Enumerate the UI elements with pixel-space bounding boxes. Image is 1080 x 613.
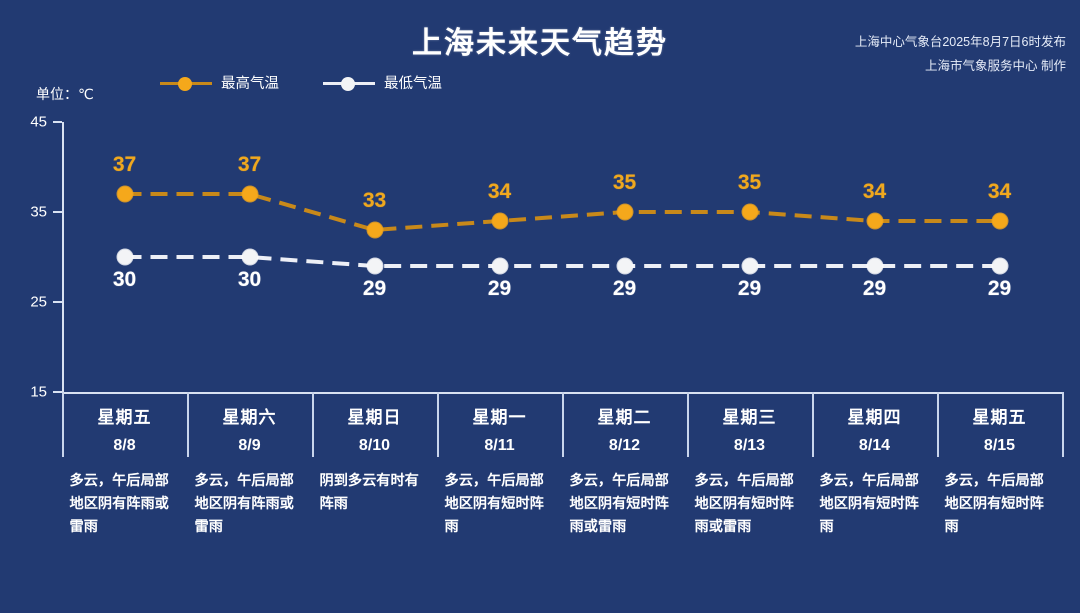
day-header-cell: 星期四8/14 <box>817 403 933 455</box>
date-label: 8/13 <box>692 437 808 455</box>
high-temp-point[interactable] <box>242 187 257 202</box>
low-temp-point[interactable] <box>992 259 1007 274</box>
high-temp-point[interactable] <box>992 214 1007 229</box>
column-divider <box>562 392 564 457</box>
weather-description: 多云，午后局部地区阴有短时阵雨 <box>820 470 928 539</box>
low-temp-label: 29 <box>965 277 1035 301</box>
weather-trend-chart: 上海未来天气趋势 上海中心气象台2025年8月7日6时发布 上海市气象服务中心 … <box>0 0 1080 613</box>
low-temp-label: 30 <box>90 268 160 292</box>
weekday-label: 星期六 <box>192 403 308 428</box>
y-axis-tick <box>53 211 62 213</box>
date-label: 8/14 <box>817 437 933 455</box>
date-label: 8/15 <box>942 437 1058 455</box>
date-label: 8/11 <box>442 437 558 455</box>
y-axis-line <box>62 122 64 392</box>
low-temp-label: 30 <box>215 268 285 292</box>
high-temp-label: 34 <box>965 180 1035 204</box>
low-temp-label: 29 <box>715 277 785 301</box>
weekday-label: 星期日 <box>317 403 433 428</box>
high-temp-point[interactable] <box>492 214 507 229</box>
weather-description: 多云，午后局部地区阴有短时阵雨 <box>945 470 1053 539</box>
column-divider <box>812 392 814 457</box>
low-temp-point[interactable] <box>617 259 632 274</box>
column-divider <box>937 392 939 457</box>
y-axis-tick-label: 45 <box>7 114 47 131</box>
column-divider <box>187 392 189 457</box>
low-temp-label: 29 <box>340 277 410 301</box>
column-divider <box>1062 392 1064 457</box>
date-label: 8/12 <box>567 437 683 455</box>
low-temp-point[interactable] <box>867 259 882 274</box>
low-temp-label: 29 <box>590 277 660 301</box>
high-temp-label: 34 <box>465 180 535 204</box>
low-temp-point[interactable] <box>242 250 257 265</box>
high-temp-point[interactable] <box>742 205 757 220</box>
weather-description: 多云，午后局部地区阴有短时阵雨 <box>445 470 553 539</box>
day-header-cell: 星期六8/9 <box>192 403 308 455</box>
column-divider <box>687 392 689 457</box>
day-header-cell: 星期一8/11 <box>442 403 558 455</box>
low-temp-label: 29 <box>465 277 535 301</box>
weekday-label: 星期五 <box>942 403 1058 428</box>
date-label: 8/10 <box>317 437 433 455</box>
date-label: 8/9 <box>192 437 308 455</box>
weather-description: 多云，午后局部地区阴有短时阵雨或雷雨 <box>570 470 678 539</box>
weather-description: 多云，午后局部地区阴有阵雨或雷雨 <box>70 470 178 539</box>
weather-description: 阴到多云有时有阵雨 <box>320 470 428 516</box>
high-temp-label: 34 <box>840 180 910 204</box>
y-axis-tick-label: 15 <box>7 384 47 401</box>
y-axis-tick-label: 35 <box>7 204 47 221</box>
weekday-label: 星期二 <box>567 403 683 428</box>
low-temp-point[interactable] <box>117 250 132 265</box>
y-axis-tick-label: 25 <box>7 294 47 311</box>
day-header-cell: 星期五8/8 <box>67 403 183 455</box>
date-label: 8/8 <box>67 437 183 455</box>
high-temp-label: 33 <box>340 189 410 213</box>
weekday-label: 星期四 <box>817 403 933 428</box>
weather-description: 多云，午后局部地区阴有短时阵雨或雷雨 <box>695 470 803 539</box>
plot-area: 4535251537303730332934293529352934293429… <box>0 0 1080 613</box>
high-temp-point[interactable] <box>617 205 632 220</box>
weather-description: 多云，午后局部地区阴有阵雨或雷雨 <box>195 470 303 539</box>
weekday-label: 星期一 <box>442 403 558 428</box>
column-divider <box>437 392 439 457</box>
y-axis-tick <box>53 301 62 303</box>
y-axis-tick <box>53 391 62 393</box>
low-temp-point[interactable] <box>492 259 507 274</box>
y-axis-tick <box>53 121 62 123</box>
high-temp-label: 35 <box>715 171 785 195</box>
high-temp-point[interactable] <box>867 214 882 229</box>
low-temp-point[interactable] <box>367 259 382 274</box>
high-temp-label: 35 <box>590 171 660 195</box>
weekday-label: 星期三 <box>692 403 808 428</box>
day-header-cell: 星期五8/15 <box>942 403 1058 455</box>
weekday-label: 星期五 <box>67 403 183 428</box>
high-temp-label: 37 <box>215 153 285 177</box>
column-divider <box>312 392 314 457</box>
low-temp-label: 29 <box>840 277 910 301</box>
day-header-cell: 星期日8/10 <box>317 403 433 455</box>
high-temp-label: 37 <box>90 153 160 177</box>
day-header-cell: 星期二8/12 <box>567 403 683 455</box>
day-header-cell: 星期三8/13 <box>692 403 808 455</box>
column-divider <box>62 392 64 457</box>
high-temp-point[interactable] <box>117 187 132 202</box>
high-temp-point[interactable] <box>367 223 382 238</box>
low-temp-point[interactable] <box>742 259 757 274</box>
